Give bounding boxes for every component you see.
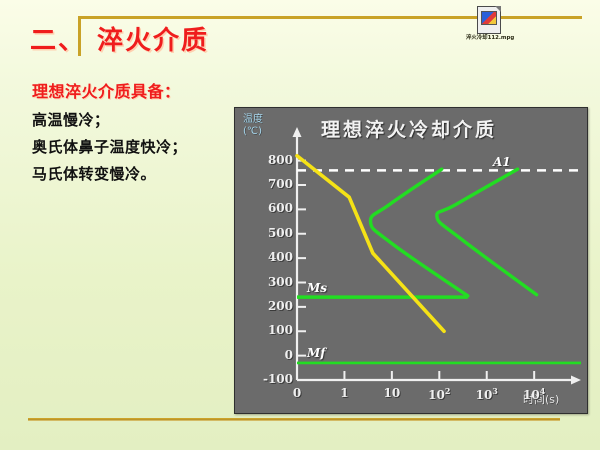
- y-tick-marks: [297, 161, 306, 380]
- plot-area: [235, 108, 587, 413]
- x-tick-marks: [344, 371, 534, 380]
- media-thumbnail-icon: [481, 11, 497, 25]
- ttt-finish-curve: [437, 169, 537, 295]
- y-axis-arrow: [293, 127, 302, 137]
- body-item-0: 高温慢冷；: [32, 109, 232, 130]
- page-title: 二、 淬火介质: [30, 20, 209, 57]
- slide-root: 二、 淬火介质 淬火冷却112.mpg 理想淬火介质具备： 高温慢冷； 奥氏体鼻…: [0, 0, 600, 450]
- footer-rule: [28, 418, 560, 421]
- media-attachment[interactable]: 淬火冷却112.mpg: [466, 6, 536, 50]
- x-axis-arrow: [571, 376, 581, 385]
- media-caption: 淬火冷却112.mpg: [466, 33, 540, 41]
- plot-svg: [235, 108, 587, 413]
- body-item-1: 奥氏体鼻子温度快冷；: [32, 136, 232, 157]
- body-lead: 理想淬火介质具备：: [32, 78, 232, 102]
- ttt-diagram-panel: 温度 (℃) 理想淬火冷却介质 时间(s) 800700600500400300…: [234, 107, 588, 414]
- body-text-block: 理想淬火介质具备： 高温慢冷； 奥氏体鼻子温度快冷； 马氏体转变慢冷。: [32, 78, 232, 190]
- media-file-icon: [477, 6, 501, 34]
- body-item-2: 马氏体转变慢冷。: [32, 163, 232, 184]
